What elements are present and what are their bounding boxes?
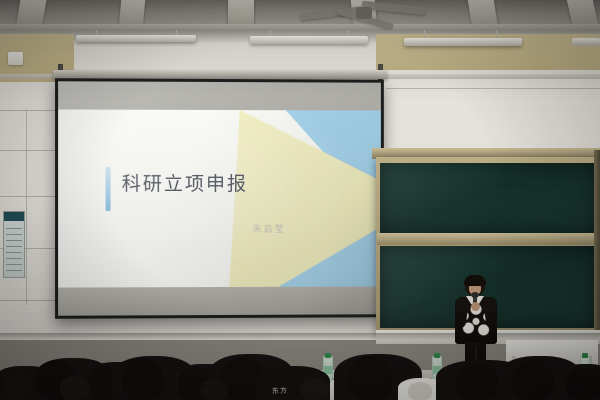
audience-head bbox=[300, 378, 330, 400]
jersey-text: 东方 bbox=[272, 385, 289, 396]
slide-title-accent-bar bbox=[105, 166, 110, 210]
light-3 bbox=[404, 38, 522, 46]
projector-screen[interactable]: 科研立项申报 朱启莹 bbox=[55, 78, 384, 319]
wall-seam bbox=[386, 88, 600, 89]
slide-title: 科研立项申报 bbox=[122, 169, 248, 196]
audience-head bbox=[2, 370, 34, 400]
blackboard-sheen bbox=[380, 163, 598, 233]
wall-seam bbox=[0, 150, 56, 151]
slide-author: 朱启莹 bbox=[253, 221, 286, 234]
fan-hub bbox=[356, 7, 372, 19]
lecture-hall-photo: 科研立项申报 朱启莹 bbox=[0, 0, 600, 400]
bottle-cap bbox=[582, 353, 588, 358]
bottle-cap bbox=[434, 353, 440, 358]
wall-seam bbox=[0, 196, 56, 197]
audience-head bbox=[566, 368, 600, 400]
audience-head bbox=[60, 376, 90, 400]
audience-head-light bbox=[408, 382, 432, 400]
blackboard-right-post bbox=[594, 150, 600, 334]
blackboard-upper-panel[interactable] bbox=[380, 163, 598, 233]
blackboard-divider-rail bbox=[377, 233, 600, 245]
screen-surface: 科研立项申报 朱启莹 bbox=[58, 81, 381, 315]
light-4 bbox=[572, 38, 600, 46]
audience-head bbox=[200, 380, 228, 400]
schedule-chart bbox=[3, 211, 25, 278]
light-1 bbox=[76, 35, 196, 42]
presenter-hair bbox=[464, 275, 486, 286]
audience-head bbox=[122, 358, 164, 400]
audience-head bbox=[512, 360, 554, 400]
schedule-chart-header bbox=[4, 212, 24, 221]
audience-head bbox=[348, 356, 392, 400]
microphone-head-icon bbox=[471, 292, 479, 298]
bottle-cap bbox=[325, 353, 331, 358]
ceiling-fan bbox=[300, 0, 430, 28]
audience: 东方 bbox=[0, 330, 600, 400]
wall-seam bbox=[26, 110, 27, 305]
presenter-hands bbox=[471, 302, 480, 311]
projected-slide: 科研立项申报 朱启莹 bbox=[58, 109, 381, 287]
audience-head bbox=[456, 362, 498, 400]
wall-seam bbox=[0, 300, 56, 301]
wall-seam bbox=[0, 110, 56, 111]
wall-sensor-icon bbox=[8, 52, 23, 65]
screen-bottom-matte bbox=[58, 286, 381, 315]
light-2 bbox=[250, 36, 368, 44]
